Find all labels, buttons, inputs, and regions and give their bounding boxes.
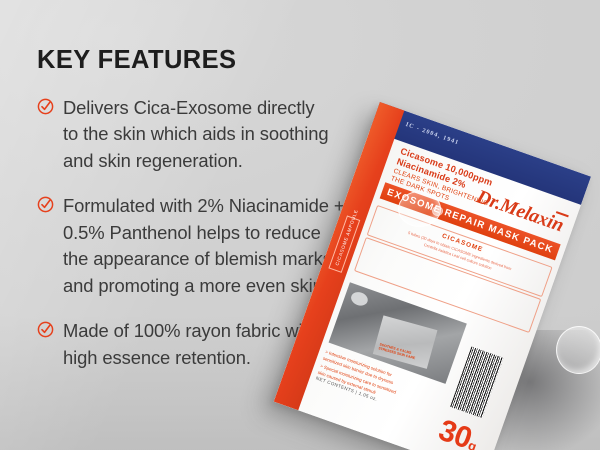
check-circle-icon xyxy=(37,98,54,115)
check-circle-icon xyxy=(37,321,54,338)
photo-sachet-caption: SOOTHES & CALMS STRESSED SKIN CARE xyxy=(378,342,417,361)
product-feature-banner: KEY FEATURES Delivers Cica-Exosome direc… xyxy=(0,0,600,450)
photo-highlight xyxy=(349,290,369,308)
barcode xyxy=(450,346,503,418)
photo-sachet: SOOTHES & CALMS STRESSED SKIN CARE xyxy=(373,315,438,369)
page-title: KEY FEATURES xyxy=(37,48,429,74)
package-band-code: IC - 2004, 1941 xyxy=(405,121,460,146)
check-circle-icon xyxy=(37,196,54,213)
package-weight: 30g xyxy=(435,416,483,450)
